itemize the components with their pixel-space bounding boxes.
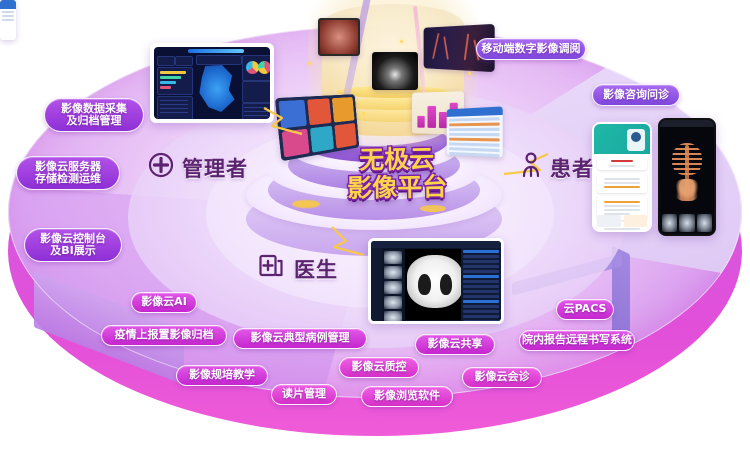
chip-patient-1[interactable]: 影像咨询问诊 [592,84,680,106]
page-title-line-1: 无极云 [322,145,472,176]
podium-gold-accent-right [420,205,446,212]
sparkle-icon [400,40,403,43]
chip-line: 及BI展示 [50,245,95,257]
chip-line: 影像咨询问诊 [603,89,669,101]
chip-line: 影像云质控 [352,361,407,373]
chip-admin-1[interactable]: 影像云服务器 存储检测运维 [16,156,120,190]
sparkle-icon [308,62,311,65]
chip-line: 影像云典型病例管理 [251,332,350,344]
chip-doctor-10[interactable]: 院内报告远程书写系统 [519,330,635,351]
chip-line: 云PACS [564,303,607,315]
document-plus-icon [258,252,286,285]
chip-doctor-8[interactable]: 影像云会诊 [462,367,542,388]
chip-doctor-0[interactable]: 影像云AI [131,292,197,313]
role-doctor[interactable]: 医生 [258,252,338,285]
chip-line: 院内报告远程书写系统 [522,334,632,346]
role-admin-label: 管理者 [182,153,248,183]
chip-doctor-2[interactable]: 影像云典型病例管理 [233,328,367,349]
chip-line: 影像云AI [141,296,187,308]
chip-line: 存储检测运维 [35,173,101,185]
chip-admin-0[interactable]: 影像数据采集 及归档管理 [44,98,144,132]
chip-line: 读片管理 [282,388,326,400]
chip-line: 移动端数字影像调阅 [482,43,581,55]
chip-doctor-1[interactable]: 疫情上报置影像归档 [101,325,227,346]
chip-line: 及归档管理 [67,115,122,127]
role-patient-label: 患者 [550,153,594,183]
sparkle-icon [362,112,365,115]
chip-line: 疫情上报置影像归档 [115,329,214,341]
chip-line: 影像规培教学 [189,369,255,381]
chip-doctor-3[interactable]: 影像规培教学 [176,365,268,386]
connector-admin [262,104,322,140]
chip-doctor-7[interactable]: 影像云共享 [415,334,495,355]
podium-gold-accent-left [292,200,320,208]
chip-doctor-5[interactable]: 读片管理 [271,384,337,405]
person-icon [520,152,542,183]
chip-line: 影像云共享 [428,338,483,350]
mini-phone-sliver [0,0,16,40]
role-doctor-label: 医生 [294,254,338,284]
circle-plus-icon [148,152,174,183]
role-patient[interactable]: 患者 [520,152,594,183]
chip-line: 影像云会诊 [475,371,530,383]
page-title-line-2: 影像平台 [322,173,472,204]
chip-admin-2[interactable]: 影像云控制台 及BI展示 [24,228,122,262]
ct-viewer-monitor[interactable] [368,238,504,324]
patient-app-phone[interactable] [592,122,652,232]
page-title: 无极云 影像平台 [322,145,473,204]
central-tower [300,0,486,150]
endoscopy-thumbnail [318,18,360,56]
chip-doctor-9[interactable]: 云PACS [556,299,614,320]
chip-patient-0[interactable]: 移动端数字影像调阅 [476,38,586,60]
chip-doctor-4[interactable]: 影像云质控 [339,357,419,378]
chip-line: 影像浏览软件 [374,390,440,402]
infographic-canvas: 管理者 患者 医生 无极云 影像平台 影像数据采集 及归档管理 [0,0,750,450]
ultrasound-thumbnail [372,52,418,90]
sparkle-icon [468,72,471,75]
chip-doctor-6[interactable]: 影像浏览软件 [361,386,453,407]
role-admin[interactable]: 管理者 [148,152,248,183]
bi-dashboard-monitor[interactable] [150,43,274,123]
mobile-3d-viewer-phone[interactable] [658,118,716,236]
